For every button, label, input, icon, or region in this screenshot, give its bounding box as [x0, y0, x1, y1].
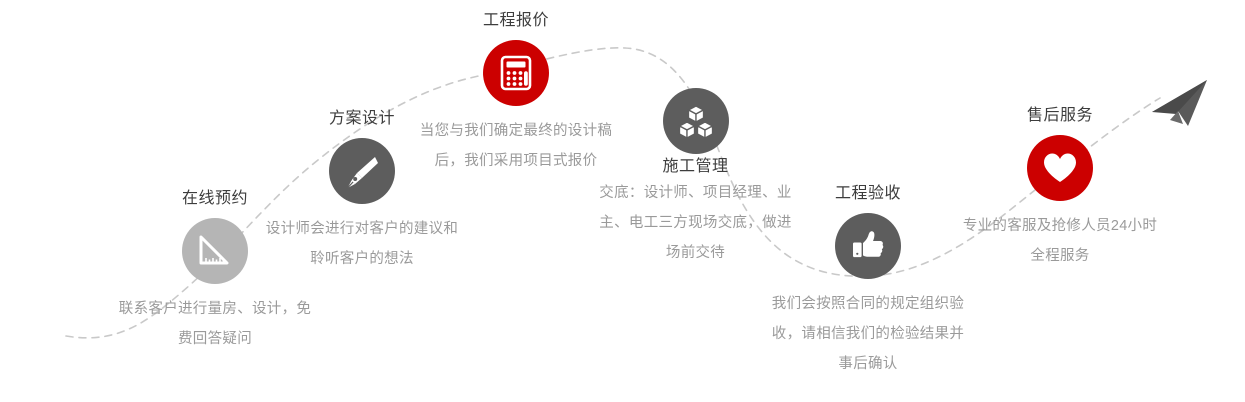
step-description: 联系客户进行量房、设计，免费回答疑问: [115, 294, 315, 354]
calculator-glyph: [497, 54, 535, 92]
thumbs-up-glyph: [849, 227, 887, 265]
heart-icon: [1027, 135, 1093, 201]
thumbs-up-icon: [835, 213, 901, 279]
calculator-icon: [483, 40, 549, 106]
service-flow-diagram: 在线预约 联系客户进行量房、设计，免费回答疑问 方案设计: [0, 0, 1245, 402]
flow-step-6[interactable]: 售后服务 专业的客服及抢修人员24小时全程服务: [960, 105, 1160, 271]
triangle-ruler-glyph: [195, 231, 235, 271]
heart-glyph: [1042, 151, 1078, 185]
fountain-pen-icon: [329, 138, 395, 204]
step-title: 售后服务: [960, 105, 1160, 127]
step-description: 设计师会进行对客户的建议和聆听客户的想法: [262, 214, 462, 274]
triangle-ruler-icon: [182, 218, 248, 284]
flow-step-3[interactable]: 工程报价 当您与我们确定最终的设计稿后，我们采用项目: [416, 10, 616, 176]
boxes-icon: [663, 88, 729, 154]
step-title: 工程报价: [416, 10, 616, 32]
fountain-pen-glyph: [342, 151, 382, 191]
boxes-glyph: [676, 101, 716, 141]
step-description: 当您与我们确定最终的设计稿后，我们采用项目式报价: [416, 116, 616, 176]
step-description: 我们会按照合同的规定组织验收，请相信我们的检验结果并事后确认: [768, 289, 968, 379]
step-title: 工程验收: [768, 183, 968, 205]
flow-step-5[interactable]: 工程验收 我们会按照合同的规定组织验收，请相信我们的检验结果并事后确认: [768, 183, 968, 379]
paper-plane-icon: [1152, 80, 1207, 126]
step-description: 专业的客服及抢修人员24小时全程服务: [960, 211, 1160, 271]
step-title: 施工管理: [593, 156, 798, 178]
